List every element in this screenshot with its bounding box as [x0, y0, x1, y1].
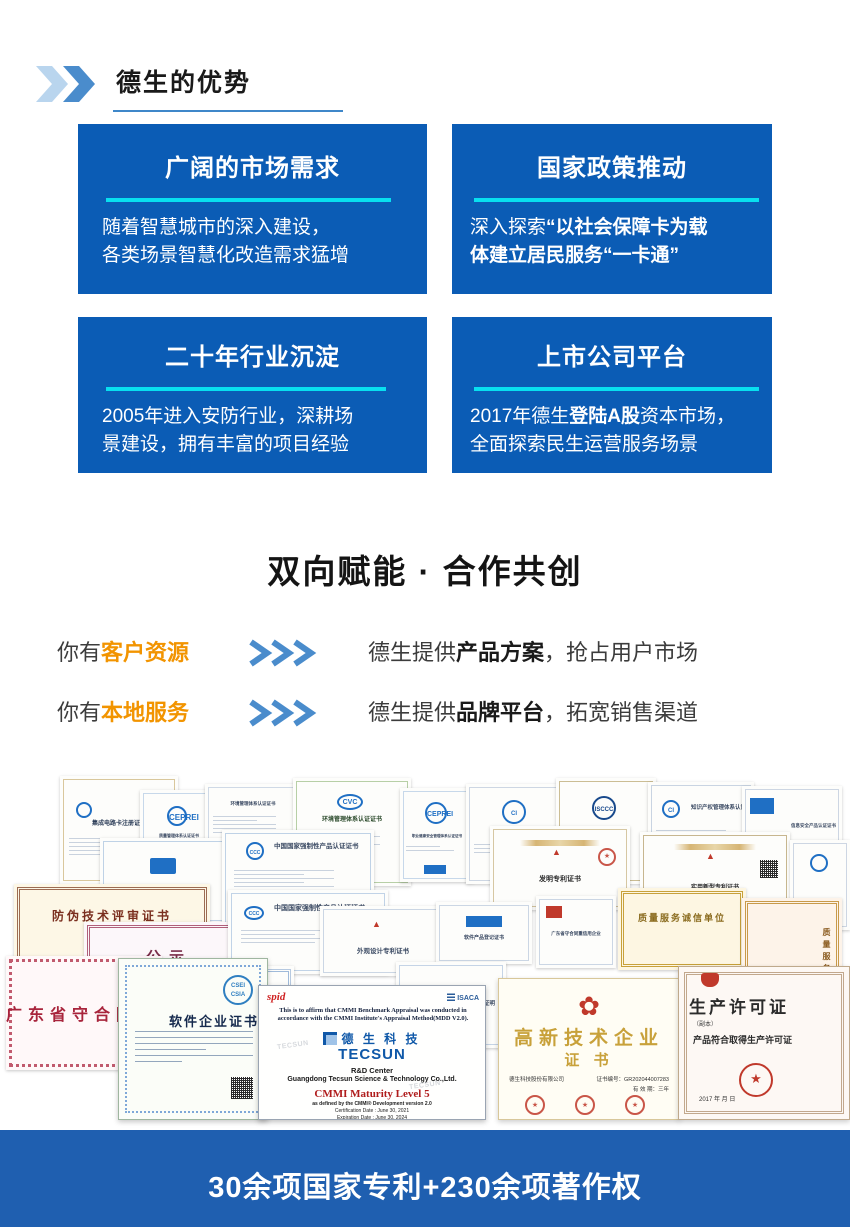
- card-body: 随着智慧城市的深入建设，各类场景智慧化改造需求猛增: [102, 214, 427, 270]
- certificate-meta-validity: 有 效 期：三年: [509, 1085, 669, 1093]
- synergy-left-prefix: 你有: [57, 700, 101, 725]
- triple-chevron-icon: [247, 697, 347, 729]
- cmmi-affirm-text: This is to affirm that CMMI Benchmark Ap…: [269, 1007, 477, 1024]
- certificate-high-tech-enterprise: ✿ 高新技术企业 证 书 德生科技股份有限公司 证书编号：GR202044007…: [498, 978, 680, 1120]
- certificate-badge: CVC: [337, 794, 363, 810]
- official-seal: [525, 1095, 545, 1115]
- certificate-title: 高新技术企业: [499, 1023, 679, 1050]
- synergy-right-prefix: 德生提供: [368, 700, 456, 725]
- certificate-badge: CEPREI: [167, 806, 187, 826]
- card-divider: [474, 198, 759, 202]
- certificate-label: 中国国家强制性产品认证证书: [222, 845, 374, 849]
- certificate-thumb: 质量服务诚信单位: [618, 888, 746, 970]
- spid-logo: spid: [267, 991, 285, 1003]
- certificate-production-license: 生产许可证 （副本） 产品符合取得生产许可证 2017 年 月 日: [678, 966, 850, 1120]
- certificate-body: [135, 1031, 253, 1067]
- infographic-page: 德生的优势 广阔的市场需求 随着智慧城市的深入建设，各类场景智慧化改造需求猛增 …: [0, 0, 850, 1227]
- validity: 有 效 期：三年: [633, 1085, 669, 1093]
- certificate-badge: [810, 854, 828, 872]
- certificate-cmmi-level5: spid ISACA This is to affirm that CMMI B…: [258, 985, 486, 1120]
- advantage-card-national-policy: 国家政策推动 深入探索“以社会保障卡为载体建立居民服务“一卡通”: [452, 124, 772, 294]
- advantage-card-listed-company: 上市公司平台 2017年德生登陆A股资本市场，全面探索民生运营服务场景: [452, 317, 772, 473]
- synergy-left-text: 你有本地服务: [57, 693, 189, 733]
- certificate-title: 软件企业证书: [127, 1011, 259, 1030]
- official-seal: [625, 1095, 645, 1115]
- synergy-right-text: 德生提供产品方案，抢占用户市场: [368, 633, 698, 673]
- tecsun-logo-icon: [323, 1032, 337, 1045]
- synergy-left-highlight: 本地服务: [101, 700, 189, 725]
- certificate-label: 环境管理体系认证证书: [293, 818, 411, 822]
- isaca-mark-icon: [447, 993, 455, 1001]
- synergy-right-text: 德生提供品牌平台，拓宽销售渠道: [368, 693, 698, 733]
- mid-section-heading: 双向赋能 · 合作共创: [0, 545, 850, 593]
- certificate-label: 外观设计专利证书: [320, 950, 446, 954]
- synergy-row-local-service: 你有本地服务 德生提供品牌平台，拓宽销售渠道: [0, 693, 850, 733]
- synergy-right-bold: 品牌平台: [456, 700, 544, 725]
- card-title: 二十年行业沉淀: [78, 343, 427, 373]
- certificate-label: 发明专利证书: [490, 878, 630, 882]
- isaca-logo: ISACA: [447, 993, 479, 1002]
- card-body: 2017年德生登陆A股资本市场，全面探索民生运营服务场景: [470, 403, 772, 459]
- synergy-right-suffix: ，拓宽销售渠道: [544, 700, 698, 725]
- certificate-thumb: 软件产品登记证书: [436, 902, 532, 964]
- certificate-date: 2017 年 月 日: [699, 1094, 833, 1103]
- certificate-badge: CEPREI: [425, 802, 447, 824]
- card-title: 广阔的市场需求: [78, 154, 427, 184]
- certificate-label: 广东省守合同重信用企业: [536, 932, 616, 936]
- certificate-subtitle: （副本）: [693, 1019, 717, 1028]
- synergy-left-text: 你有客户资源: [57, 633, 189, 673]
- flame-logo-icon: ✿: [578, 993, 600, 1019]
- title-underline: [113, 110, 343, 112]
- synergy-row-customer-resources: 你有客户资源 德生提供产品方案，抢占用户市场: [0, 633, 850, 673]
- card-divider: [106, 387, 386, 391]
- cmmi-division: R&D Center: [259, 1066, 485, 1075]
- csei-csia-badge: CSEICSIA: [223, 975, 253, 1005]
- certificate-label: 防伪技术评审证书: [14, 914, 210, 918]
- synergy-right-prefix: 德生提供: [368, 640, 456, 665]
- certificate-label: 职业健康安全管理体系认证证书: [400, 834, 474, 838]
- section-header: 德生的优势: [0, 28, 850, 94]
- card-title: 国家政策推动: [452, 154, 772, 184]
- cmmi-defined-by: as defined by the CMMI® Development vers…: [259, 1101, 485, 1107]
- official-seal: [575, 1095, 595, 1115]
- page-title: 德生的优势: [116, 66, 251, 100]
- triple-chevron-icon: [247, 637, 347, 669]
- footer-text: 30余项国家专利+230余项著作权: [0, 1164, 850, 1206]
- certificate-statement: 产品符合取得生产许可证: [693, 1033, 792, 1046]
- official-seal: [739, 1063, 773, 1097]
- synergy-right-suffix: ，抢占用户市场: [544, 640, 698, 665]
- synergy-left-prefix: 你有: [57, 640, 101, 665]
- card-divider: [106, 198, 391, 202]
- advantage-card-market-demand: 广阔的市场需求 随着智慧城市的深入建设，各类场景智慧化改造需求猛增: [78, 124, 427, 294]
- card-body: 深入探索“以社会保障卡为载体建立居民服务“一卡通”: [470, 214, 772, 270]
- certificate-label: 软件产品登记证书: [436, 936, 532, 940]
- synergy-right-bold: 产品方案: [456, 640, 544, 665]
- certificate-meta-company: 德生科技股份有限公司 证书编号：GR202044007283: [509, 1075, 669, 1083]
- cmmi-company: Guangdong Tecsun Science & Technology Co…: [259, 1076, 485, 1083]
- qr-code-icon: [231, 1077, 253, 1099]
- certificate-label: 知识产权管理体系认证: [648, 806, 754, 810]
- certificate-label: 信息安全产品认证证书: [742, 824, 842, 828]
- certificate-badge: CI: [502, 800, 526, 824]
- certificate-thumb: 广东省守合同重信用企业: [536, 896, 616, 968]
- certificate-subtitle: 证 书: [499, 1049, 679, 1070]
- chevron-group: [36, 66, 106, 102]
- national-emblem-icon: [701, 973, 719, 987]
- cmmi-dates: Certification Date : June 30, 2021 Expir…: [259, 1108, 485, 1120]
- certificate-title: 生产许可证: [689, 993, 839, 1018]
- synergy-left-highlight: 客户资源: [101, 640, 189, 665]
- cmmi-maturity-level: CMMI Maturity Level 5: [259, 1088, 485, 1100]
- certificate-badge: ISCCC: [592, 796, 616, 820]
- footer-banner: 30余项国家专利+230余项著作权: [0, 1130, 850, 1227]
- tecsun-brand-cn: 德 生 科 技: [341, 1030, 420, 1047]
- certificate-collage: 集成电路卡注册证书 CEPREI 质量管理体系认证证书 环境管理体系认证证书 C…: [0, 770, 850, 1130]
- company-name: 德生科技股份有限公司: [509, 1075, 564, 1083]
- card-title: 上市公司平台: [452, 343, 772, 373]
- card-divider: [474, 387, 759, 391]
- advantage-card-twenty-years: 二十年行业沉淀 2005年进入安防行业，深耕场景建设，拥有丰富的项目经验: [78, 317, 427, 473]
- card-body: 2005年进入安防行业，深耕场景建设，拥有丰富的项目经验: [102, 403, 427, 459]
- cert-no: 证书编号：GR202044007283: [597, 1075, 669, 1083]
- certificate-thumb: CEPREI 职业健康安全管理体系认证证书: [400, 788, 474, 882]
- certificate-software-enterprise: CSEICSIA 软件企业证书: [118, 958, 268, 1120]
- certificate-badge: [76, 802, 92, 818]
- certificate-label: 环境管理体系认证证书: [205, 802, 301, 806]
- certificate-label: 质量服务诚信单位: [618, 916, 746, 920]
